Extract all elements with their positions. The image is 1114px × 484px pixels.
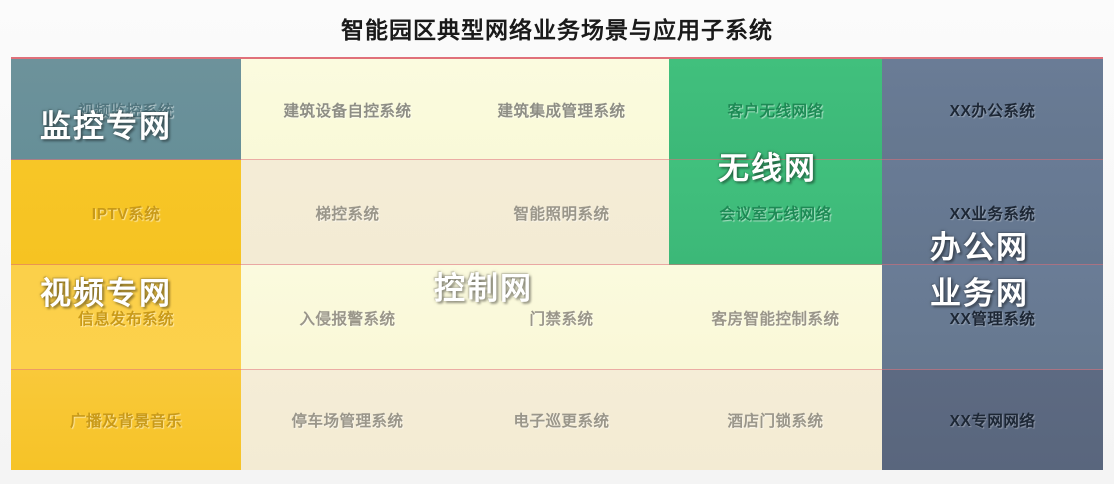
matrix-cell[interactable]: 梯控系统 [241, 160, 454, 265]
matrix-cell[interactable]: 客房智能控制系统 [669, 265, 882, 370]
matrix-cell-label: 入侵报警系统 [299, 307, 395, 329]
matrix-cell-label: 信息发布系统 [78, 307, 174, 329]
matrix-cell[interactable]: XX业务系统 [882, 160, 1103, 265]
matrix-cell-label: 建筑设备自控系统 [283, 99, 411, 121]
matrix-cell[interactable]: XX管理系统 [882, 265, 1103, 370]
matrix-cell[interactable]: 广播及背景音乐 [11, 370, 241, 470]
matrix-cell-label: 广播及背景音乐 [70, 409, 182, 431]
matrix-cell-label: IPTV系统 [92, 202, 160, 224]
matrix-cell[interactable]: 会议室无线网络 [669, 160, 882, 265]
matrix-cell[interactable]: 酒店门锁系统 [669, 370, 882, 470]
matrix-cell-label: 电子巡更系统 [513, 409, 609, 431]
matrix-cell-label: 梯控系统 [315, 202, 379, 224]
matrix-cell[interactable]: 建筑集成管理系统 [454, 59, 669, 160]
matrix-cell[interactable]: 建筑设备自控系统 [241, 59, 454, 160]
matrix-cell-label: 客房智能控制系统 [711, 307, 839, 329]
diagram-canvas: 智能园区典型网络业务场景与应用子系统 视频监控系统建筑设备自控系统建筑集成管理系… [0, 0, 1114, 484]
matrix-cell-label: 建筑集成管理系统 [497, 99, 625, 121]
matrix-cell-label: 客户无线网络 [727, 99, 823, 121]
subsystem-matrix: 视频监控系统建筑设备自控系统建筑集成管理系统客户无线网络XX办公系统IPTV系统… [11, 57, 1103, 468]
matrix-cell[interactable]: 入侵报警系统 [241, 265, 454, 370]
matrix-cell[interactable]: IPTV系统 [11, 160, 241, 265]
matrix-cell[interactable]: 信息发布系统 [11, 265, 241, 370]
matrix-cell-label: XX专网网络 [950, 409, 1036, 431]
matrix-cell-label: 视频监控系统 [78, 99, 174, 121]
matrix-cell[interactable]: 智能照明系统 [454, 160, 669, 265]
matrix-cell[interactable]: XX专网网络 [882, 370, 1103, 470]
matrix-cell[interactable]: 门禁系统 [454, 265, 669, 370]
matrix-cell-label: 智能照明系统 [513, 202, 609, 224]
matrix-cell-label: XX办公系统 [950, 99, 1036, 121]
matrix-cell[interactable]: 视频监控系统 [11, 59, 241, 160]
matrix-cell[interactable]: 电子巡更系统 [454, 370, 669, 470]
matrix-cell[interactable]: XX办公系统 [882, 59, 1103, 160]
matrix-cell-label: XX管理系统 [950, 307, 1036, 329]
matrix-cell[interactable]: 客户无线网络 [669, 59, 882, 160]
matrix-cell[interactable]: 停车场管理系统 [241, 370, 454, 470]
matrix-cell-label: 停车场管理系统 [291, 409, 403, 431]
matrix-cell-label: 酒店门锁系统 [727, 409, 823, 431]
matrix-cell-label: XX业务系统 [950, 202, 1036, 224]
matrix-cell-label: 门禁系统 [529, 307, 593, 329]
page-title: 智能园区典型网络业务场景与应用子系统 [341, 11, 773, 45]
title-bar: 智能园区典型网络业务场景与应用子系统 [0, 0, 1114, 55]
matrix-cell-label: 会议室无线网络 [719, 202, 831, 224]
